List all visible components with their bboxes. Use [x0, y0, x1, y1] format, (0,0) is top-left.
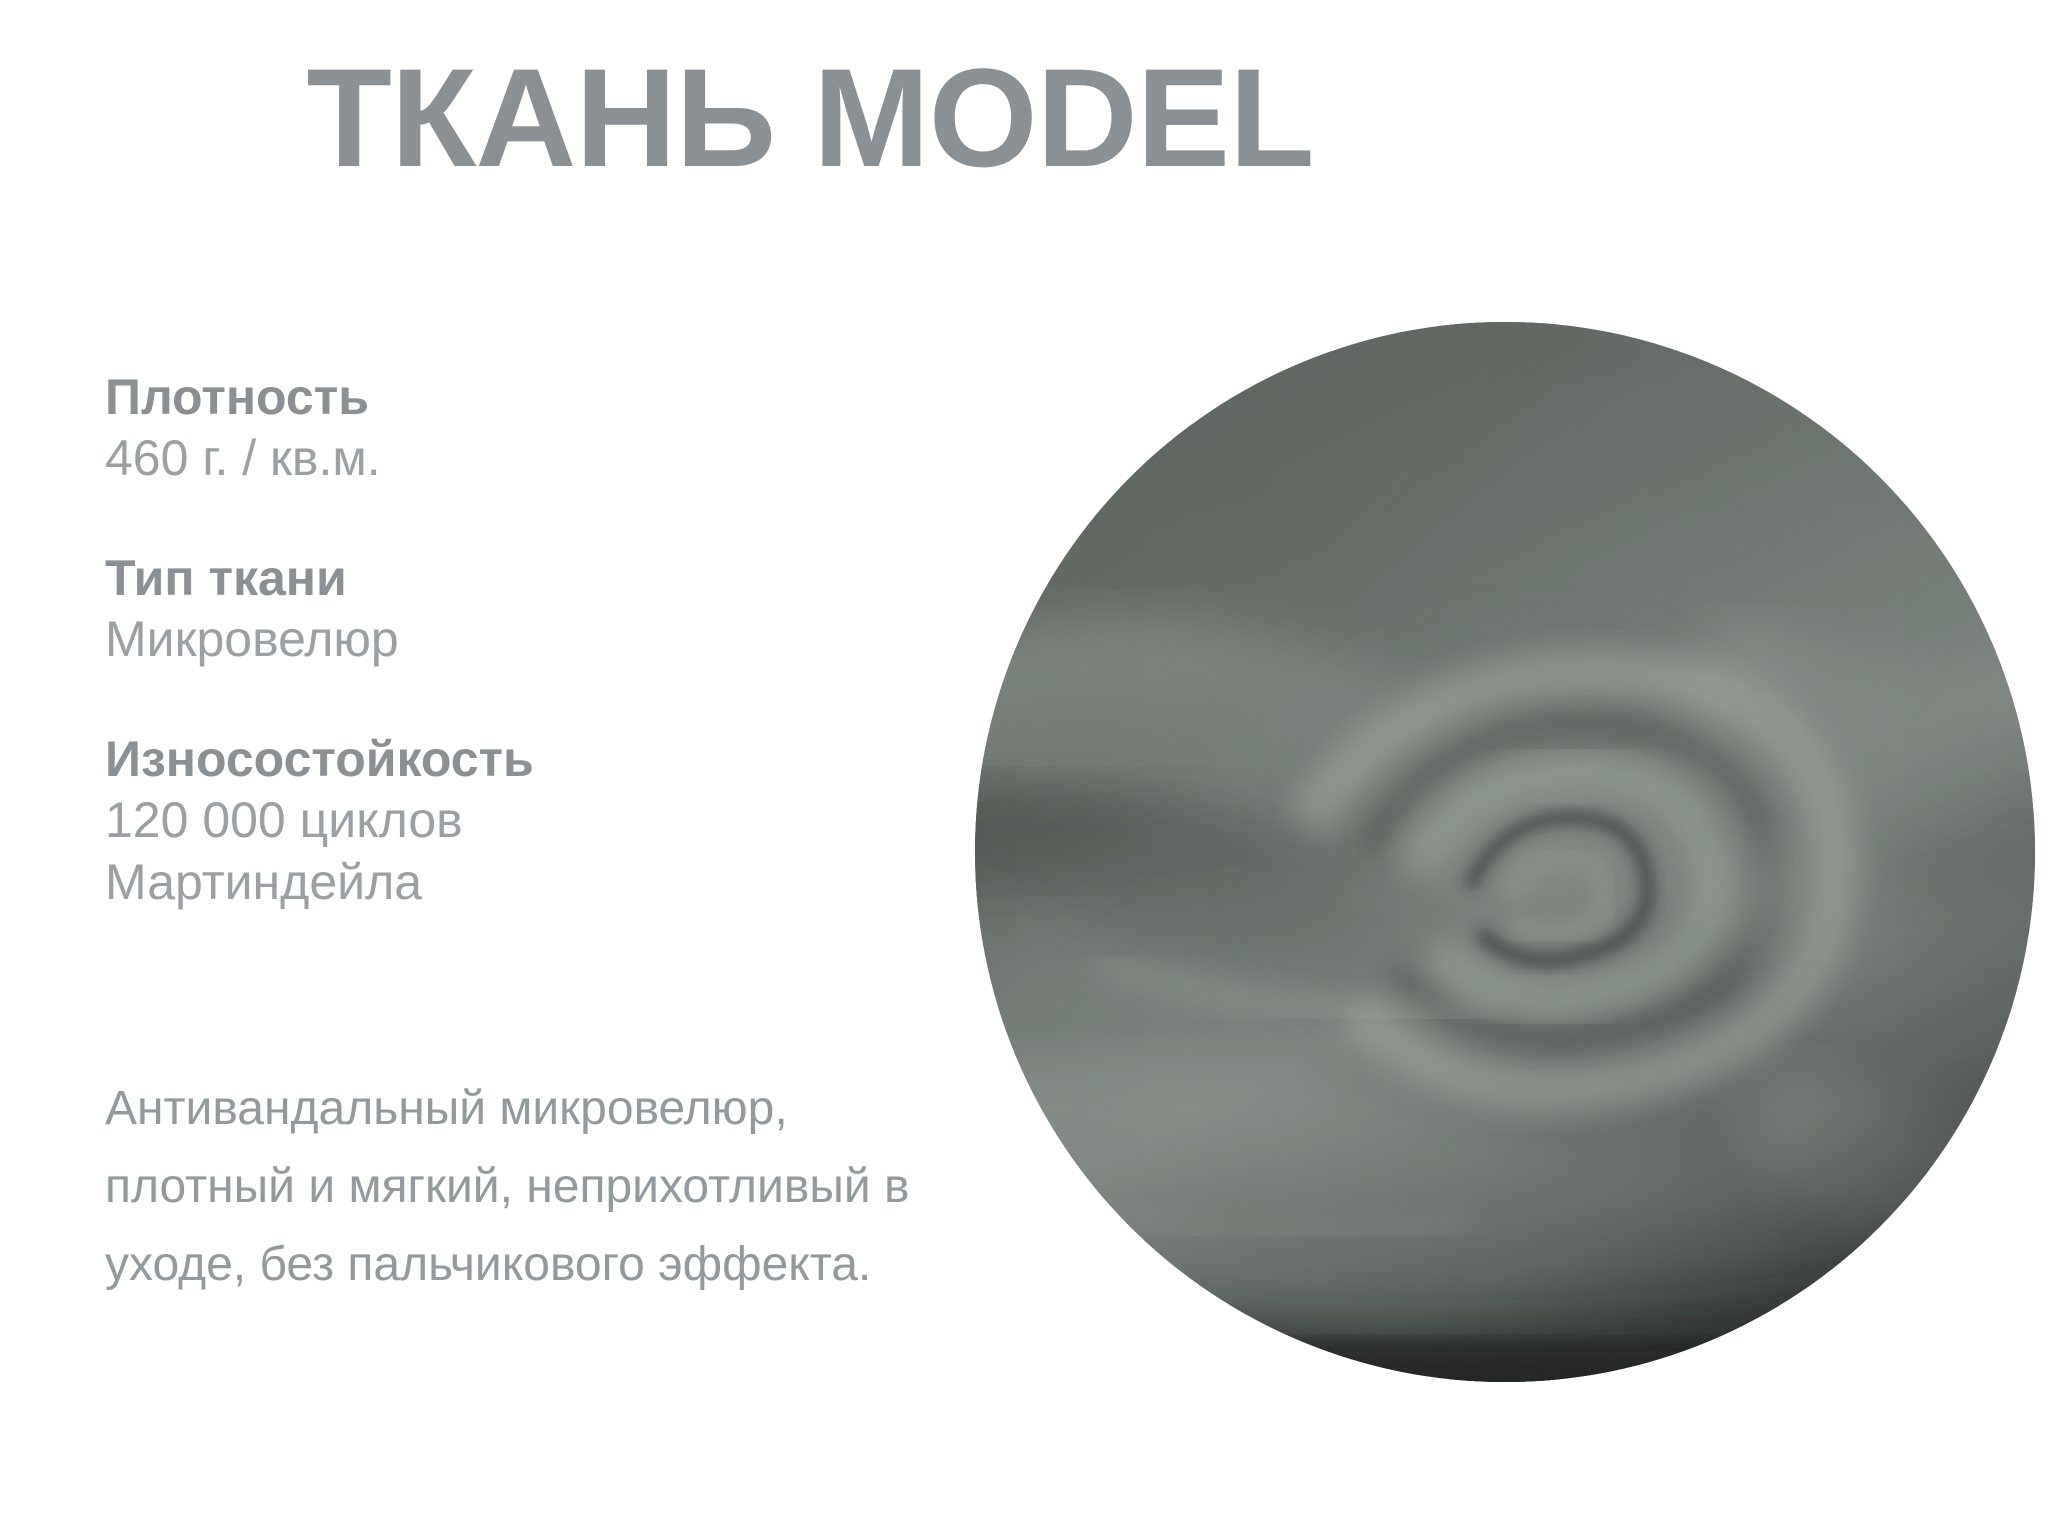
description-paragraph: Антивандальный микровелюр, плотный и мяг… — [105, 1070, 985, 1303]
specifications-list: Плотность 460 г. / кв.м. Тип ткани Микро… — [105, 368, 925, 973]
fabric-type-label: Тип ткани — [105, 549, 925, 608]
durability-value: 120 000 циклов — [105, 789, 925, 851]
page-title: ТКАНЬ MODEL — [0, 48, 1620, 188]
fabric-texture-illustration — [975, 322, 2035, 1382]
fabric-swatch-circle-photo — [975, 322, 2035, 1382]
durability-label: Износостойкость — [105, 730, 925, 789]
fabric-type-value: Микровелюр — [105, 608, 925, 670]
spec-item-durability: Износостойкость 120 000 циклов Мартиндей… — [105, 730, 925, 913]
density-value: 460 г. / кв.м. — [105, 427, 925, 489]
spec-item-fabric-type: Тип ткани Микровелюр — [105, 549, 925, 670]
spec-item-density: Плотность 460 г. / кв.м. — [105, 368, 925, 489]
durability-value-line2: Мартиндейла — [105, 851, 925, 913]
density-label: Плотность — [105, 368, 925, 427]
